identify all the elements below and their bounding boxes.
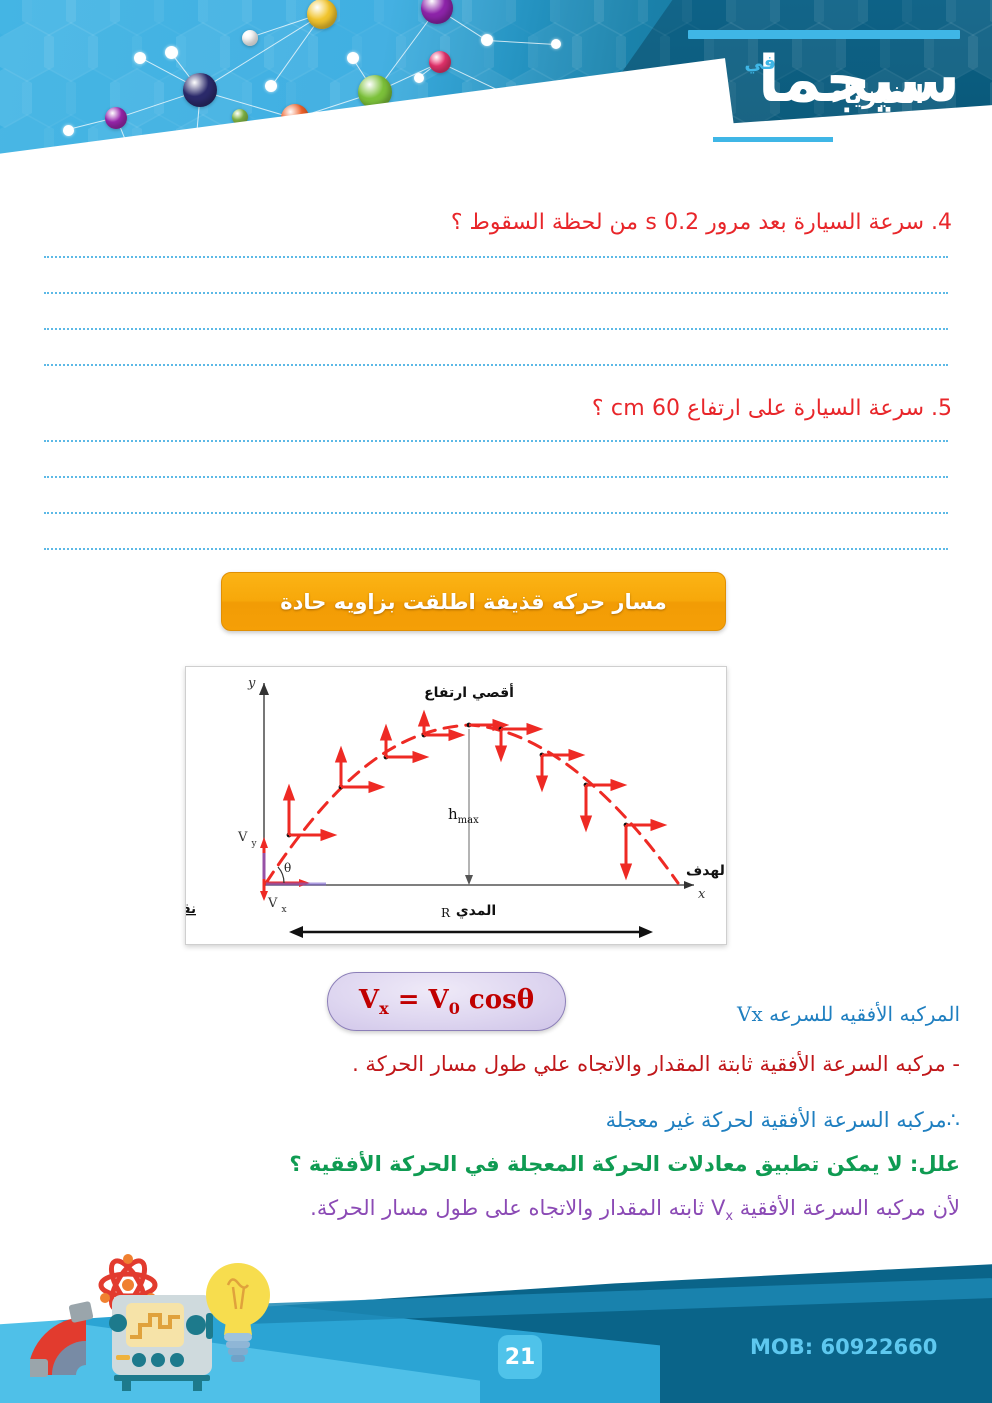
answer-line[interactable] [44,512,948,514]
figure-range-label: المدي [456,903,496,920]
logo-top-bar [688,30,960,39]
page-number-badge: 21 [498,1335,542,1379]
figure-target-label: الهدف [686,863,724,879]
magnet-icon [30,1301,94,1377]
logo-author-text: إعداد : ياسر جاد [826,128,960,148]
note-horizontal-velocity-constant: - مركبه السرعة الأفقية ثابتة المقدار وال… [45,1052,960,1076]
axis-y-label: y [247,676,256,691]
figure-max-height-label: أقصي ارتفاع [424,683,514,701]
note-conclusion-uniform-motion: ∴مركبه السرعة الأفقية لحركة غير معجلة [45,1108,960,1132]
question-4-text: 4. سرعة السيارة بعد مرور 0.2 s من لحظة ا… [52,210,952,235]
projectile-diagram: y x [185,666,727,945]
brand-logo: سيجما في الفيزياء إعداد : ياسر جاد [668,24,968,169]
figure-hmax-label: hmax [448,805,479,826]
figure-launch-point-label: نقطة القذف [186,902,196,917]
note-explain-answer: لأن مركبه السرعة الأفقية Vx ثابته المقدا… [45,1196,960,1224]
answer-line[interactable] [44,548,948,550]
figure-vx-label: V x [267,896,287,915]
answer-line[interactable] [44,256,948,258]
formula-pill: Vx = V0 cosθ [327,972,566,1031]
physics-illustration [30,1247,310,1397]
logo-fi-text: في [744,52,776,74]
lightbulb-icon [206,1263,270,1362]
logo-bottom-bar [713,137,833,142]
answer-line[interactable] [44,440,948,442]
contact-mobile-text: MOB: 60922660 [750,1335,937,1359]
axis-x-label: x [698,887,706,902]
answer-line[interactable] [44,328,948,330]
section-banner: مسار حركه قذيفة اطلقت بزاويه حادة [221,572,726,631]
logo-wordmark: سيجما في الفيزياء [672,50,960,122]
question-5-text: 5. سرعة السيارة على ارتفاع 60 cm ؟ [52,396,952,421]
oscilloscope-icon [109,1295,213,1391]
formula-text: Vx = V0 cosθ [359,985,534,1018]
horizontal-component-caption: المركبه الأفقيه للسرعه Vx [737,1002,960,1026]
answer-line[interactable] [44,292,948,294]
page-header: سيجما في الفيزياء إعداد : ياسر جاد [0,0,992,215]
section-banner-label: مسار حركه قذيفة اطلقت بزاويه حادة [280,590,667,614]
note-explain-question: علل: لا يمكن تطبيق معادلات الحركة المعجل… [45,1152,960,1176]
figure-theta-label: θ [284,861,291,875]
figure-range-symbol: R [441,906,451,920]
answer-line[interactable] [44,476,948,478]
figure-vy-label: V y [237,830,258,849]
document-page: سيجما في الفيزياء إعداد : ياسر جاد 4. سر… [0,0,992,1403]
logo-physics-text: الفيزياء [831,80,924,109]
page-footer: 21 MOB: 60922660 [0,1243,992,1403]
answer-line[interactable] [44,364,948,366]
